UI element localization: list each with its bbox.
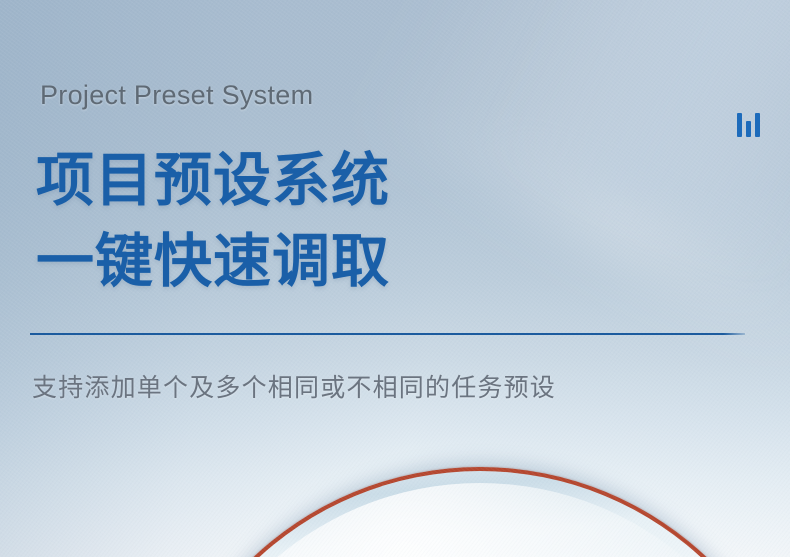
headline-line-2: 一键快速调取 <box>36 221 390 302</box>
promo-banner: Project Preset System 项目预设系统 一键快速调取 支持添加… <box>0 0 790 557</box>
eyebrow-text: Project Preset System <box>40 80 313 111</box>
headline-line-1: 项目预设系统 <box>36 140 390 221</box>
three-bar-logo-mark-icon <box>737 111 763 137</box>
horizontal-divider <box>30 333 745 335</box>
logo-bar-3 <box>755 113 760 137</box>
banner-content: Project Preset System 项目预设系统 一键快速调取 支持添加… <box>0 0 790 557</box>
page-title: 项目预设系统 一键快速调取 <box>36 140 390 302</box>
logo-bar-2 <box>746 121 751 137</box>
logo-bar-1 <box>737 113 742 137</box>
subcopy-text: 支持添加单个及多个相同或不相同的任务预设 <box>32 368 556 404</box>
